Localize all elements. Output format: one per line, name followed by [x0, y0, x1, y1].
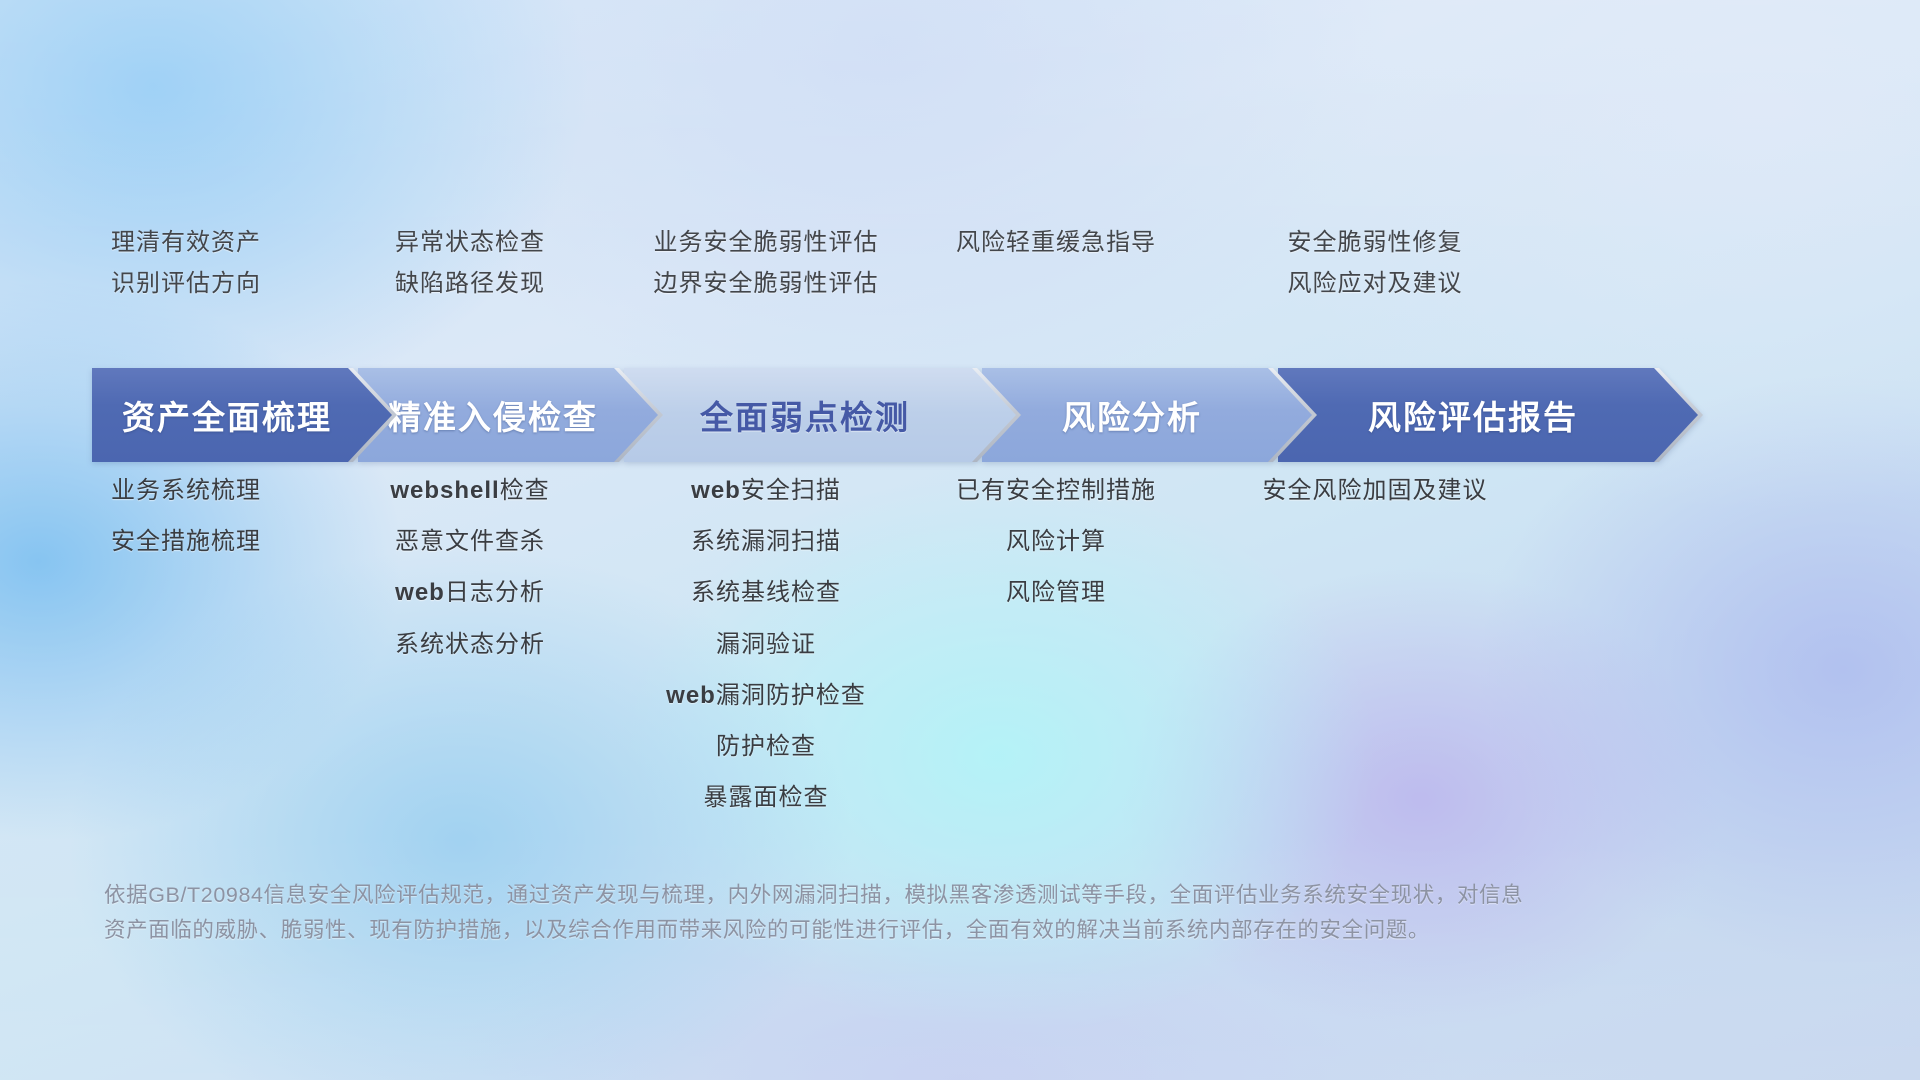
latin-token: web [395, 579, 445, 606]
latin-token: web [691, 477, 741, 504]
top-caption-line: 边界安全脆弱性评估 [654, 271, 879, 296]
chevron-label: 全面弱点检测 [700, 391, 940, 439]
detail-item: 漏洞验证 [716, 632, 816, 657]
detail-item: 防护检查 [716, 734, 816, 759]
chevron-risk-analysis[interactable]: 风险分析 [982, 368, 1312, 462]
process-chevron-banner: 资产全面梳理精准入侵检查全面弱点检测风险分析风险评估报告 [92, 368, 1834, 462]
chevron-label: 资产全面梳理 [122, 391, 362, 439]
detail-item: web漏洞防护检查 [666, 683, 866, 708]
chevron-intrusion-check[interactable]: 精准入侵检查 [358, 368, 658, 462]
detail-item: 风险计算 [1006, 529, 1106, 554]
chevron-asset-review[interactable]: 资产全面梳理 [92, 368, 392, 462]
chevron-label: 风险分析 [1062, 391, 1232, 439]
top-caption-line: 安全脆弱性修复 [1288, 230, 1463, 255]
detail-item: 暴露面检查 [704, 785, 829, 810]
chevron-label: 精准入侵检查 [388, 391, 628, 439]
detail-item: 风险管理 [1006, 580, 1106, 605]
top-captions-row: 理清有效资产识别评估方向异常状态检查缺陷路径发现业务安全脆弱性评估边界安全脆弱性… [0, 230, 1920, 330]
footer-description: 依据GB/T20984信息安全风险评估规范，通过资产发现与梳理，内外网漏洞扫描，… [104, 878, 1664, 948]
footer-line-2: 资产面临的威胁、脆弱性、现有防护措施，以及综合作用而带来风险的可能性进行评估，全… [104, 913, 1664, 948]
top-caption-line: 风险应对及建议 [1288, 271, 1463, 296]
chevron-risk-report[interactable]: 风险评估报告 [1278, 368, 1698, 462]
slide-canvas: 理清有效资产识别评估方向异常状态检查缺陷路径发现业务安全脆弱性评估边界安全脆弱性… [0, 0, 1920, 1080]
detail-item: 安全风险加固及建议 [1263, 478, 1488, 503]
chevron-weakness-detection[interactable]: 全面弱点检测 [624, 368, 1016, 462]
detail-list-risk-report: 安全风险加固及建议 [1125, 478, 1625, 503]
latin-token: webshell [390, 477, 499, 504]
latin-token: web [666, 682, 716, 709]
footer-line-1: 依据GB/T20984信息安全风险评估规范，通过资产发现与梳理，内外网漏洞扫描，… [104, 878, 1664, 913]
top-caption-risk-report: 安全脆弱性修复风险应对及建议 [1125, 230, 1625, 296]
chevron-label: 风险评估报告 [1368, 391, 1608, 439]
